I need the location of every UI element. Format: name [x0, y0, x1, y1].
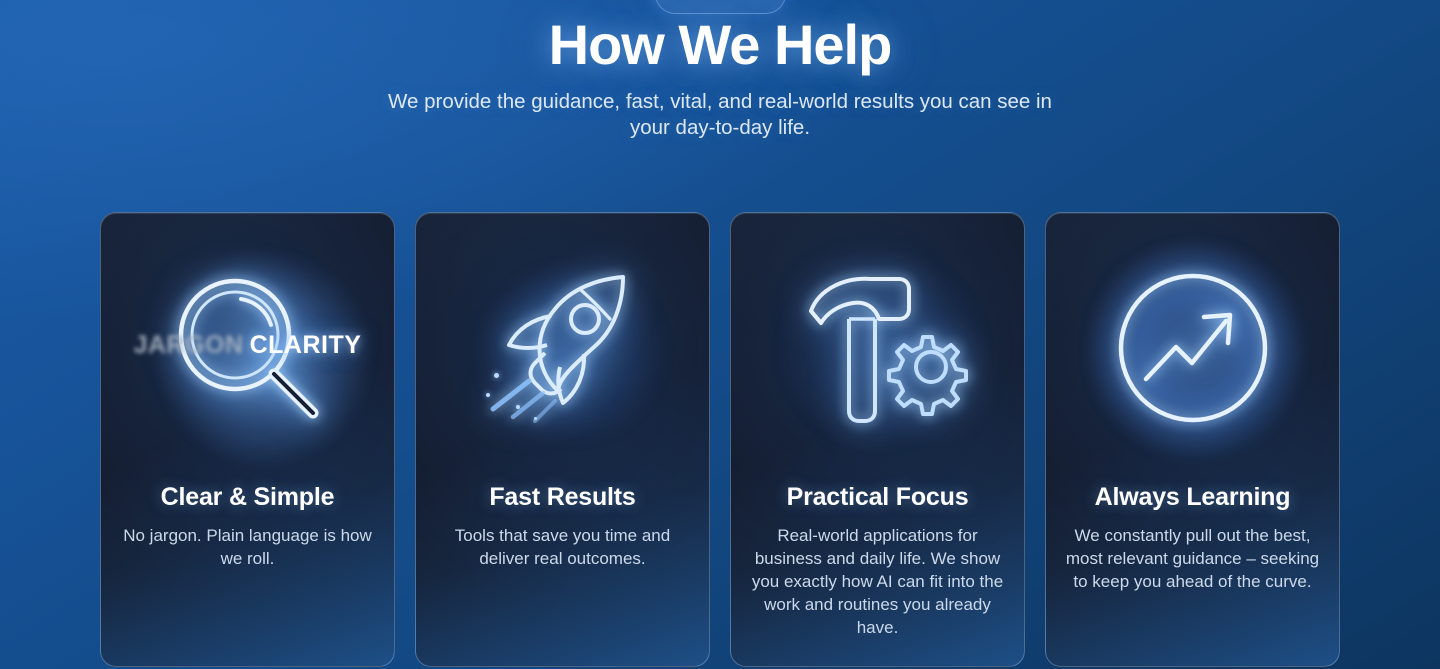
section-header: How We Help We provide the guidance, fas…	[0, 14, 1440, 141]
icon-area	[731, 213, 1024, 483]
card-text-block: Practical Focus Real-world applications …	[731, 483, 1024, 640]
card-title: Fast Results	[434, 483, 691, 512]
icon-area	[416, 213, 709, 483]
rocket-icon	[463, 261, 663, 436]
card-description: Tools that save you time and deliver rea…	[434, 524, 691, 570]
icon-area: JARGONCLARITY	[101, 213, 394, 483]
card-description: No jargon. Plain language is how we roll…	[119, 524, 376, 570]
card-text-block: Fast Results Tools that save you time an…	[416, 483, 709, 570]
spark-dot	[486, 393, 490, 397]
hammer-and-gear-icon	[783, 263, 973, 433]
card-title: Always Learning	[1064, 483, 1321, 512]
icon-overlay-text: JARGONCLARITY	[101, 331, 394, 360]
card-description: Real-world applications for business and…	[749, 524, 1006, 640]
card-title: Practical Focus	[749, 483, 1006, 512]
feature-cards-row: JARGONCLARITY Clear & Simple No jargon. …	[100, 212, 1340, 667]
spark-dot	[534, 417, 537, 420]
overlay-word-jargon: JARGON	[134, 331, 244, 359]
trending-up-circle-icon	[1108, 263, 1278, 433]
card-text-block: Always Learning We constantly pull out t…	[1046, 483, 1339, 593]
page-subtitle: We provide the guidance, fast, vital, an…	[370, 89, 1070, 141]
icon-area	[1046, 213, 1339, 483]
overlay-word-clarity: CLARITY	[250, 331, 362, 359]
top-badge-pill[interactable]	[655, 0, 786, 14]
card-title: Clear & Simple	[119, 483, 376, 512]
feature-card-always-learning[interactable]: Always Learning We constantly pull out t…	[1045, 212, 1340, 667]
spark-dot	[516, 405, 520, 409]
spark-dot	[494, 373, 499, 378]
feature-card-fast-results[interactable]: Fast Results Tools that save you time an…	[415, 212, 710, 667]
card-description: We constantly pull out the best, most re…	[1064, 524, 1321, 593]
feature-card-practical-focus[interactable]: Practical Focus Real-world applications …	[730, 212, 1025, 667]
card-text-block: Clear & Simple No jargon. Plain language…	[101, 483, 394, 570]
feature-card-clear-and-simple[interactable]: JARGONCLARITY Clear & Simple No jargon. …	[100, 212, 395, 667]
page-title: How We Help	[0, 14, 1440, 76]
